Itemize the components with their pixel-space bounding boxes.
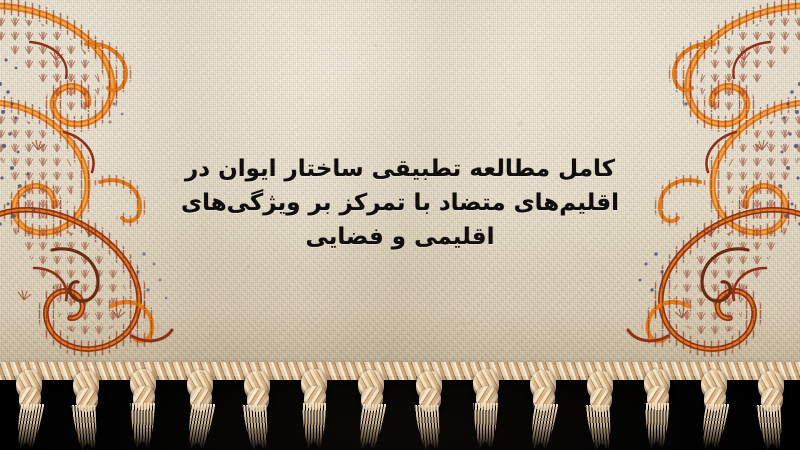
tassel-strands (183, 404, 217, 450)
tassel-strands (526, 404, 560, 450)
tassel (578, 371, 622, 450)
tassel (521, 370, 565, 450)
tassel (64, 371, 108, 450)
title-card-canvas: کامل مطالعه تطبیقی ساختار ایوان در اقلیم… (0, 0, 800, 450)
page-title: کامل مطالعه تطبیقی ساختار ایوان در اقلیم… (0, 152, 800, 254)
tassel (407, 371, 451, 450)
tassel (7, 370, 51, 450)
embroidered-cloth: کامل مطالعه تطبیقی ساختار ایوان در اقلیم… (0, 0, 800, 376)
tassel-strands (412, 405, 446, 450)
title-line-2: اقلیم‌های متضاد با تمرکز بر ویژگی‌های (60, 186, 740, 220)
tassel-strands (643, 403, 671, 449)
tassel-strands (129, 403, 157, 449)
tassel-strands (755, 405, 789, 450)
tassel-strands (354, 404, 388, 450)
tassel-strands (583, 405, 617, 450)
title-line-1: کامل مطالعه تطبیقی ساختار ایوان در (60, 152, 740, 186)
tassel (178, 370, 222, 450)
title-line-3: اقلیمی و فضایی (60, 220, 740, 254)
tassel (464, 369, 508, 449)
knotted-tassel-fringe (0, 370, 800, 450)
tassel-strands (11, 404, 45, 450)
tassel-strands (69, 405, 103, 450)
tassel (749, 371, 793, 450)
tassel-strands (697, 404, 731, 450)
tassel-strands (240, 405, 274, 450)
tassel (292, 369, 336, 449)
tassel (635, 369, 679, 449)
tassel (121, 369, 165, 449)
tassel (349, 370, 393, 450)
tassel (692, 370, 736, 450)
tassel-strands (300, 403, 328, 449)
tassel-strands (472, 403, 500, 449)
tassel (235, 371, 279, 450)
